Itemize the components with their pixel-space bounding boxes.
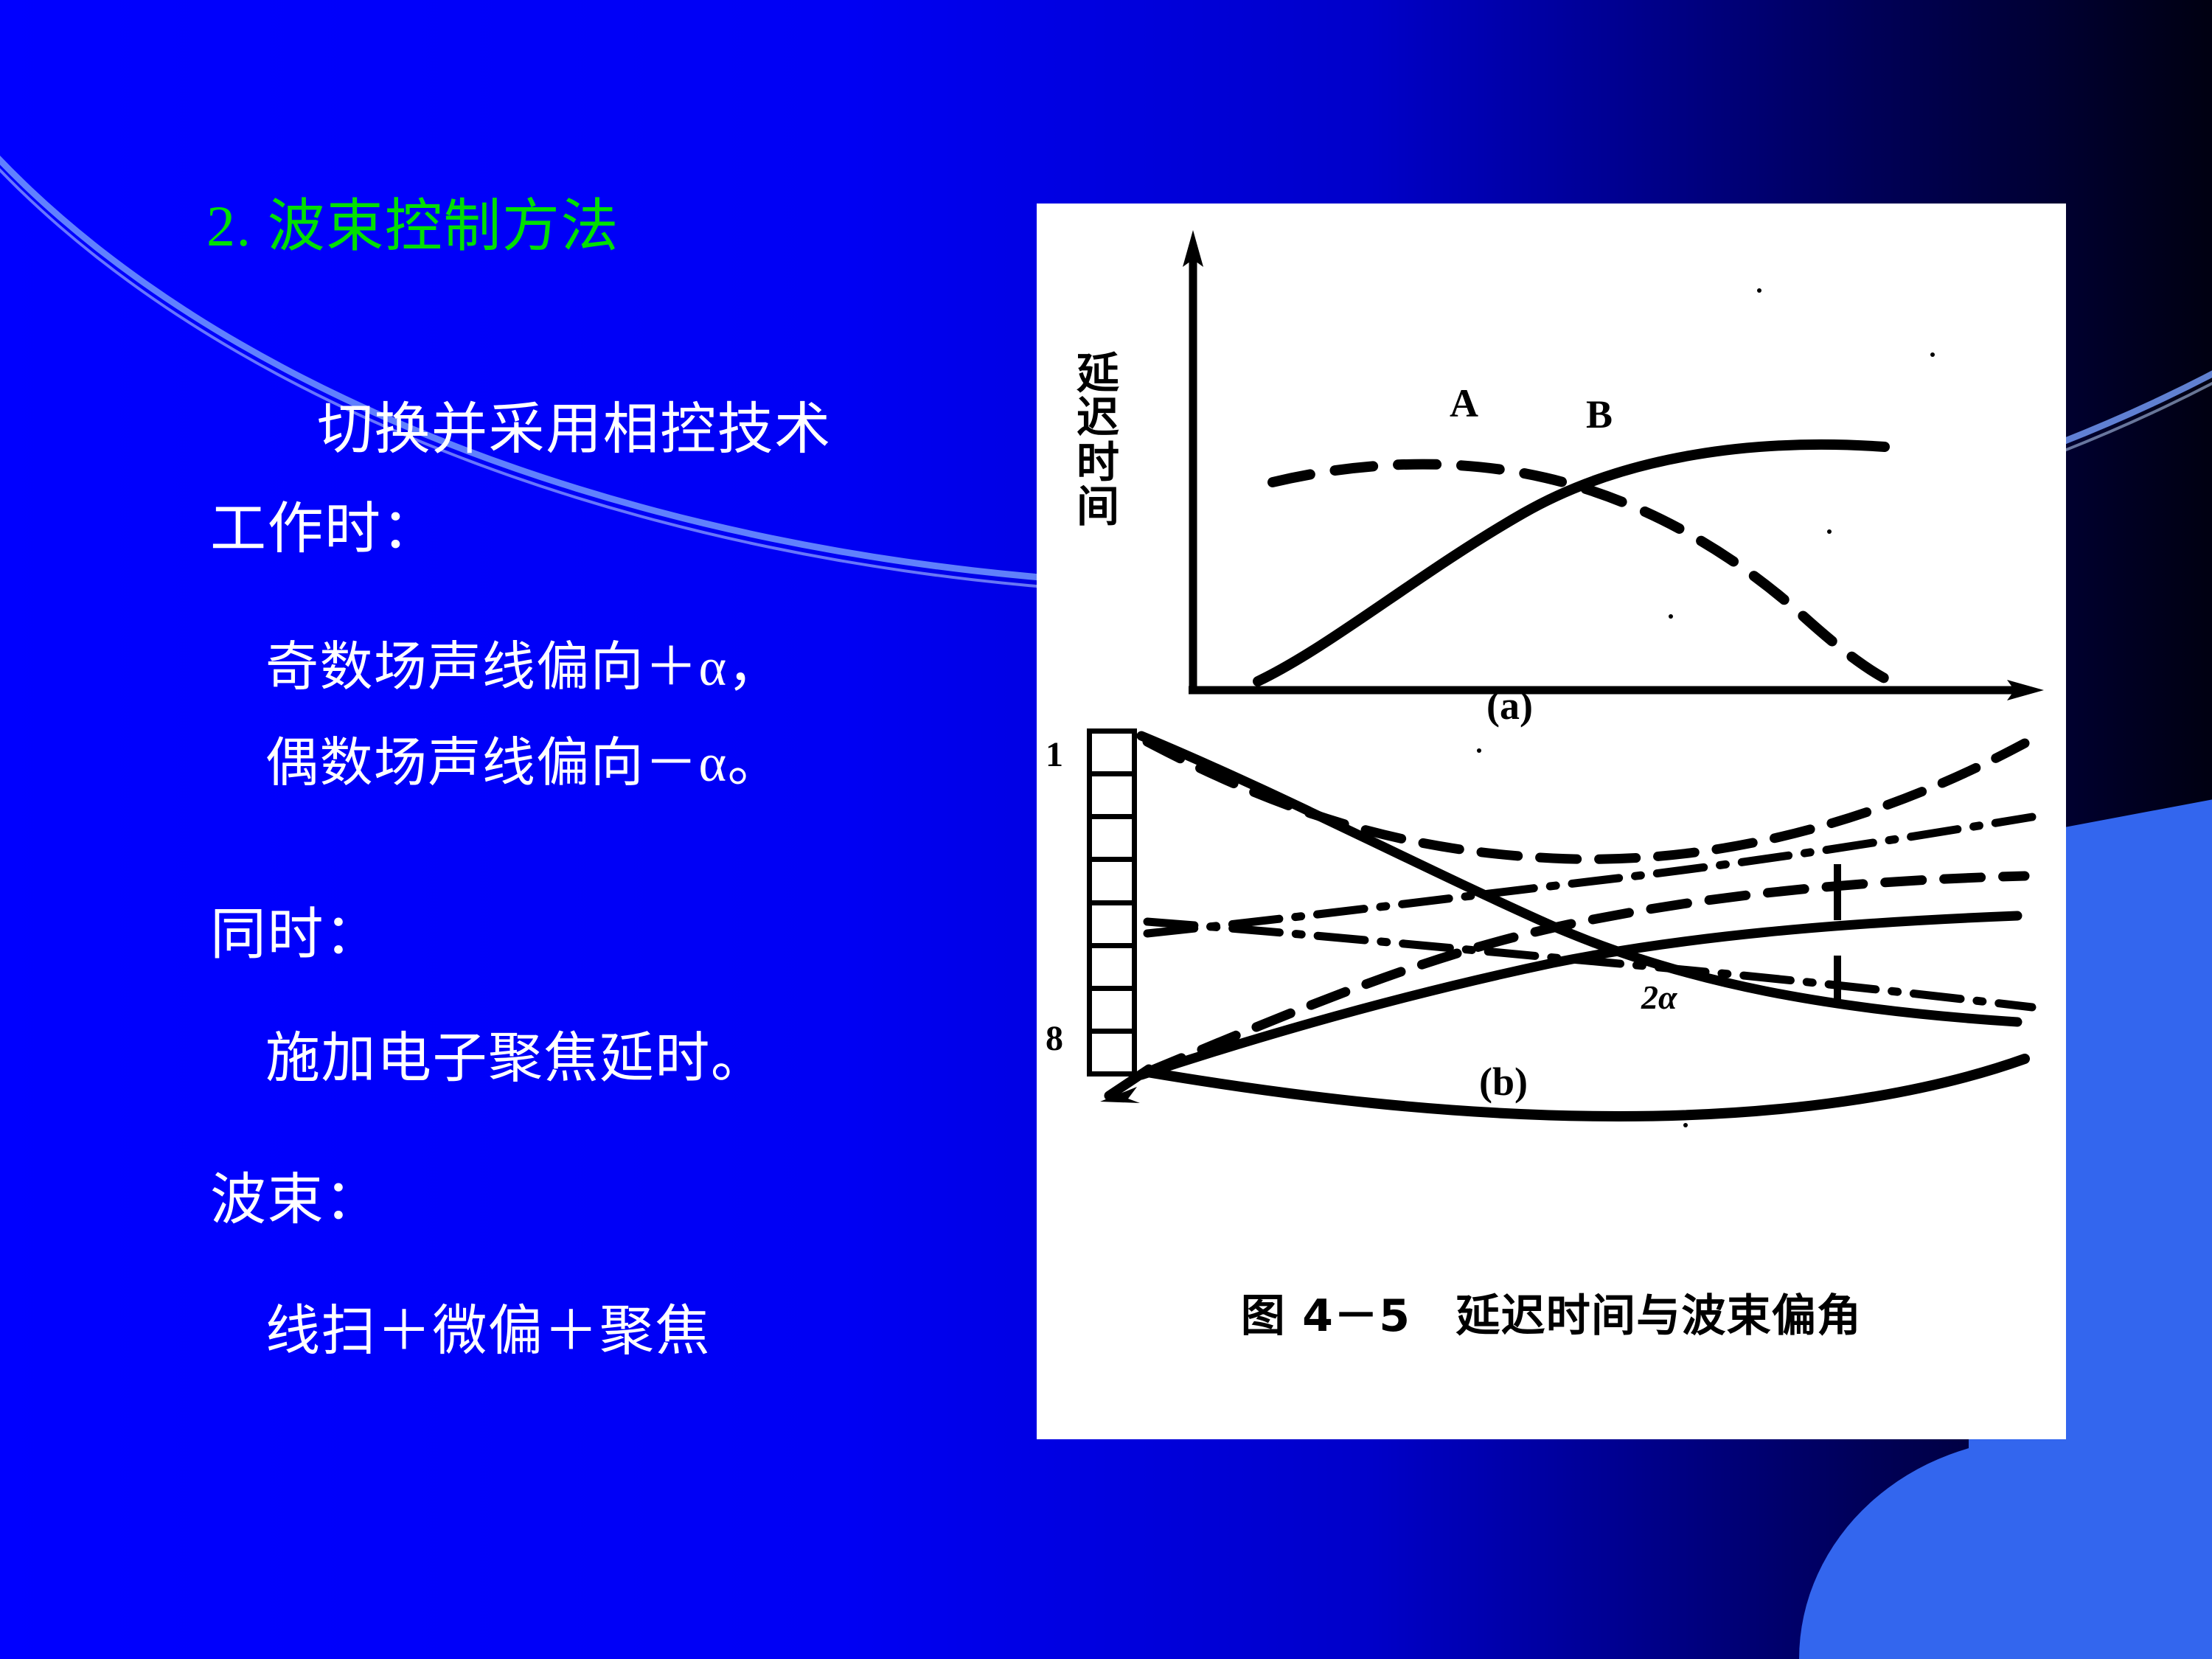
- array-element: [1092, 948, 1132, 991]
- body-line-focus-delay: 施加电子聚焦延时。: [265, 1014, 766, 1093]
- array-element: [1092, 1034, 1132, 1071]
- chart-b-subcaption: (b): [1479, 1059, 1528, 1105]
- scan-speckle: [1827, 529, 1832, 534]
- curve-B-solid: [1258, 445, 1885, 681]
- array-element: [1092, 862, 1132, 905]
- slide-title: 2. 波束控制方法: [206, 198, 619, 255]
- figure-panel: 延迟时间 A B (a): [1037, 204, 2066, 1439]
- slide-canvas: 2. 波束控制方法 切换并采用相控技术 工作时： 奇数场声线偏向＋α， 偶数场声…: [0, 0, 2212, 1659]
- curve-label-a: A: [1450, 380, 1478, 426]
- scan-speckle: [1930, 352, 1935, 357]
- array-element: [1092, 905, 1132, 948]
- array-index-top: 1: [1046, 734, 1063, 775]
- scan-speckle: [1683, 1123, 1688, 1127]
- array-element: [1092, 991, 1132, 1034]
- decorative-corner-round: [1799, 1438, 2042, 1659]
- figure-caption: 图 4－5 延迟时间与波束偏角: [1037, 1280, 2066, 1344]
- array-index-bottom: 8: [1046, 1018, 1063, 1059]
- angle-annotation: 2α: [1641, 978, 1677, 1017]
- body-line-odd-field: 奇数场声线偏向＋α，: [265, 623, 782, 700]
- scan-speckle: [1477, 748, 1481, 753]
- ray-dashdot-lower: [1147, 922, 2032, 1007]
- chart-b-beam-array: 1 8 2α (b): [1037, 712, 2066, 1228]
- array-element: [1092, 776, 1132, 819]
- chart-b-svg: [1037, 712, 2066, 1228]
- array-element: [1092, 819, 1132, 862]
- body-line-beam-heading: 波束：: [210, 1154, 382, 1235]
- chart-a-svg: [1037, 204, 2066, 720]
- scan-speckle: [1669, 614, 1673, 619]
- ray-dashed-lower: [1147, 876, 2025, 1072]
- scan-speckle: [1757, 288, 1761, 293]
- body-line-even-field: 偶数场声线偏向－α。: [265, 719, 782, 796]
- chart-a-y-axis-label: 延迟时间: [1075, 351, 1121, 529]
- slide-text-column: 2. 波束控制方法 切换并采用相控技术 工作时： 奇数场声线偏向＋α， 偶数场声…: [0, 0, 1032, 1659]
- chart-a-delay-vs-angle: 延迟时间 A B (a): [1037, 204, 2066, 720]
- ray-solid-envelope: [1147, 1059, 2025, 1116]
- body-line-simultaneous-heading: 同时：: [210, 888, 382, 970]
- curve-A-dashed: [1273, 465, 1903, 687]
- array-element: [1092, 734, 1132, 776]
- body-line-switching-phased: 切换并采用相控技术: [317, 383, 832, 465]
- transducer-array: [1087, 728, 1137, 1077]
- curve-label-b: B: [1586, 392, 1613, 437]
- body-line-beam-composition: 线扫＋微偏＋聚焦: [265, 1287, 711, 1366]
- body-line-working-heading: 工作时：: [210, 483, 439, 564]
